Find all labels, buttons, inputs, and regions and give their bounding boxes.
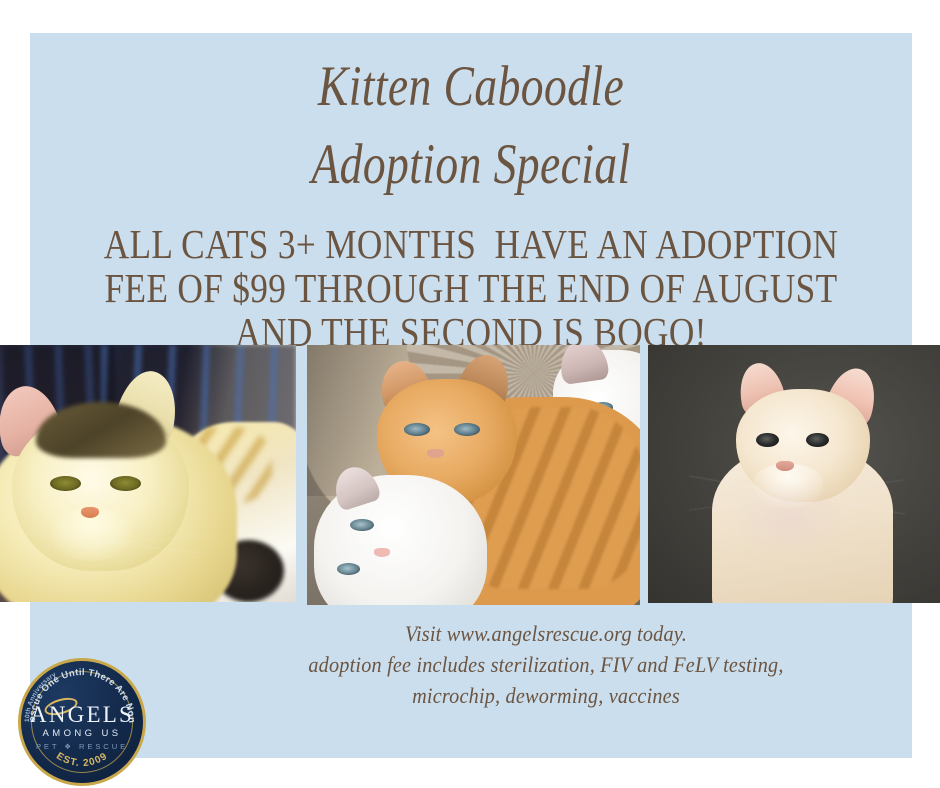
photo-cream-kitten-portrait — [648, 345, 940, 603]
angels-among-us-logo: Rescue One Until There Are None 10th Ann… — [18, 658, 146, 786]
photo-2-white-kitten-lower-eye-upper — [350, 519, 373, 531]
offer-line-2: FEE OF $99 THROUGH THE END OF AUGUST — [92, 266, 851, 310]
photo-1-kitten-whiskers — [18, 515, 202, 572]
footer-line-services: microchip, deworming, vaccines — [209, 680, 882, 711]
logo-name: ANGELS — [18, 703, 146, 727]
headline-line-1: Kitten Caboodle — [118, 48, 824, 126]
photo-2-orange-kitten-eye-right — [454, 423, 481, 436]
headline-line-2: Adoption Special — [118, 126, 824, 204]
adoption-flyer: Kitten Caboodle Adoption Special ALL CAT… — [0, 0, 940, 788]
logo-subtitle: AMONG US — [18, 727, 146, 741]
photo-2-white-kitten-lower-nose — [374, 548, 391, 557]
photo-three-kittens-on-cat-tree — [307, 345, 640, 605]
offer-block: ALL CATS 3+ MONTHS HAVE AN ADOPTION FEE … — [30, 222, 912, 354]
logo-tagline: PET ❖ RESCUE — [18, 741, 146, 753]
footer-line-website: Visit www.angelsrescue.org today. — [209, 618, 882, 649]
footer-line-includes: adoption fee includes sterilization, FIV… — [209, 649, 882, 680]
photo-2-orange-kitten-nose — [427, 449, 444, 458]
photo-3-chest-tint — [730, 479, 847, 556]
photo-2-white-kitten-upper-ear — [557, 345, 609, 384]
logo-established-text: EST. 2009 — [54, 751, 110, 769]
headline-block: Kitten Caboodle Adoption Special — [30, 48, 912, 204]
photo-2-orange-kitten-eye-left — [404, 423, 431, 436]
offer-line-1: ALL CATS 3+ MONTHS HAVE AN ADOPTION — [92, 222, 851, 266]
footer-block: Visit www.angelsrescue.org today. adopti… — [180, 618, 912, 711]
logo-center-text: ANGELS AMONG US PET ❖ RESCUE — [18, 703, 146, 753]
photo-tabby-white-kitten-in-cage — [0, 345, 296, 602]
photo-3-kitten-eye-right — [806, 433, 829, 447]
